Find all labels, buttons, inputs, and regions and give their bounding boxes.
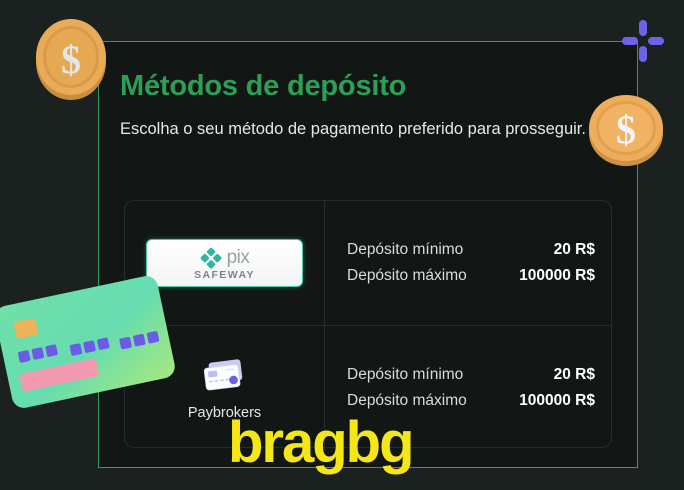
page-subtitle: Escolha o seu método de pagamento prefer… — [120, 115, 590, 143]
svg-text:$: $ — [61, 37, 81, 82]
payment-method-row-pix[interactable]: pix SAFEWAY Depósito mínimo 20 R$ Depósi… — [125, 201, 611, 325]
paybrokers-min-deposit-value: 20 R$ — [554, 362, 595, 388]
credit-cards-icon — [200, 356, 250, 396]
pix-brand-cell[interactable]: pix SAFEWAY — [125, 201, 325, 325]
pix-wordmark: pix — [227, 248, 250, 267]
pix-safeway-label: SAFEWAY — [194, 269, 255, 281]
pix-max-deposit-line: Depósito máximo 100000 R$ — [347, 263, 595, 289]
pix-amounts: Depósito mínimo 20 R$ Depósito máximo 10… — [325, 237, 611, 289]
pix-max-deposit-label: Depósito máximo — [347, 263, 467, 289]
paybrokers-amounts: Depósito mínimo 20 R$ Depósito máximo 10… — [325, 362, 611, 414]
pix-min-deposit-value: 20 R$ — [554, 237, 595, 263]
paybrokers-min-deposit-line: Depósito mínimo 20 R$ — [347, 362, 595, 388]
watermark: bragbg — [228, 414, 413, 472]
pix-min-deposit-label: Depósito mínimo — [347, 237, 463, 263]
pix-safeway-logo[interactable]: pix SAFEWAY — [146, 239, 303, 287]
pix-max-deposit-value: 100000 R$ — [519, 263, 595, 289]
paybrokers-min-deposit-label: Depósito mínimo — [347, 362, 463, 388]
pix-diamond-icon — [200, 247, 222, 269]
paybrokers-max-deposit-value: 100000 R$ — [519, 388, 595, 414]
pix-min-deposit-line: Depósito mínimo 20 R$ — [347, 237, 595, 263]
deposit-methods-screen: Métodos de depósito Escolha o seu método… — [0, 0, 684, 490]
pix-logo-row: pix — [200, 246, 250, 270]
page-title: Métodos de depósito — [120, 70, 406, 103]
